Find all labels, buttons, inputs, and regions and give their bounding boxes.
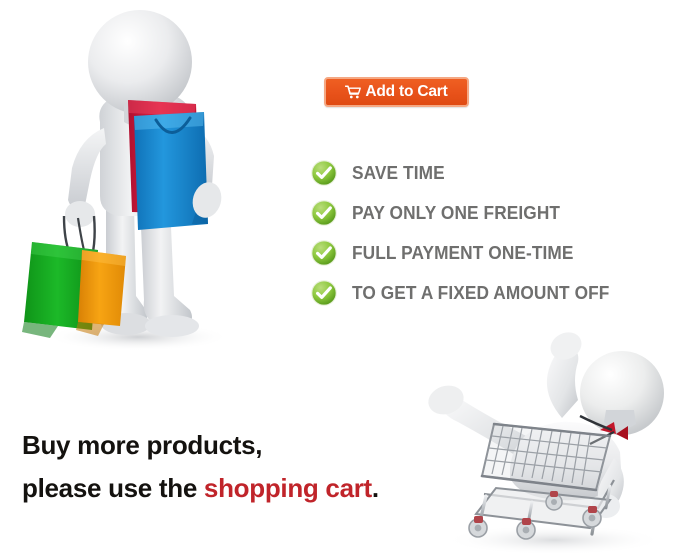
green-check-circle-icon <box>311 160 337 186</box>
benefit-label: FULL PAYMENT ONE-TIME <box>352 243 574 264</box>
tagline-highlight: shopping cart <box>204 473 372 503</box>
green-check-circle-icon <box>311 280 337 306</box>
benefit-item-full-payment: FULL PAYMENT ONE-TIME <box>311 233 691 273</box>
benefits-list: SAVE TIME PAY ONLY ONE FREIGHT FULL PAYM… <box>311 153 691 313</box>
tagline-line-1: Buy more products, <box>22 424 442 467</box>
tagline: Buy more products, please use the shoppi… <box>22 424 442 510</box>
tagline-line-2: please use the shopping cart. <box>22 467 442 510</box>
add-to-cart-button[interactable]: Add to Cart <box>324 77 469 107</box>
tagline-suffix: . <box>372 473 379 503</box>
green-check-circle-icon <box>311 200 337 226</box>
benefit-item-one-freight: PAY ONLY ONE FREIGHT <box>311 193 691 233</box>
cart-rider-illustration <box>414 318 700 557</box>
benefit-item-save-time: SAVE TIME <box>311 153 691 193</box>
promo-banner: Add to Cart SAVE TIME <box>0 0 700 557</box>
add-to-cart-label: Add to Cart <box>365 84 447 100</box>
tagline-prefix: please use the <box>22 473 204 503</box>
green-check-circle-icon <box>311 240 337 266</box>
benefit-item-amount-off: TO GET A FIXED AMOUNT OFF <box>311 273 691 313</box>
shopping-cart-icon <box>345 85 361 99</box>
benefit-label: SAVE TIME <box>352 163 445 184</box>
benefit-label: PAY ONLY ONE FREIGHT <box>352 203 560 224</box>
shopper-illustration <box>8 4 278 354</box>
benefit-label: TO GET A FIXED AMOUNT OFF <box>352 283 609 304</box>
